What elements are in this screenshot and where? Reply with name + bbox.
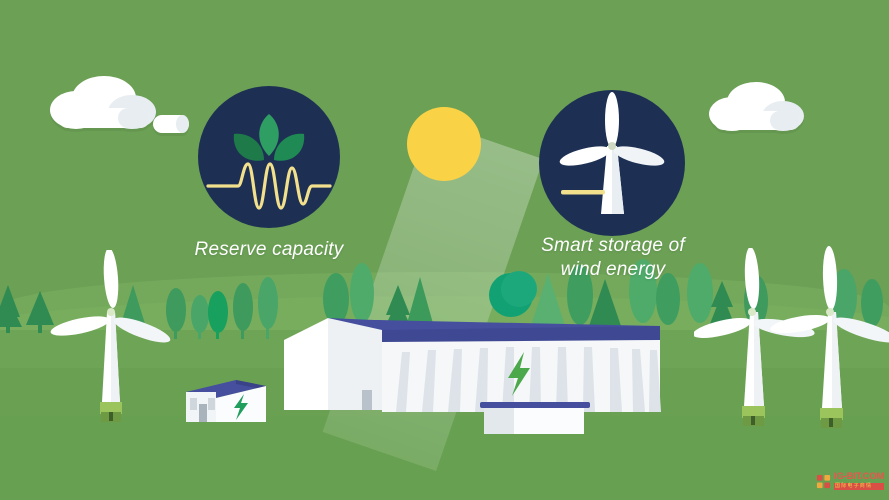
badge-smart-storage-caption: Smart storage of wind energy [520, 234, 706, 282]
leaf-center [259, 114, 279, 156]
badge-reserve-capacity-caption: Reserve capacity [178, 238, 360, 262]
watermark-subtext: 国际电子商情 [834, 483, 884, 490]
caption-text: Reserve capacity [195, 239, 344, 260]
infographic-scene: Reserve capacity Smart storage of wind e… [0, 0, 889, 500]
cloud-small-left [152, 113, 190, 135]
substation-annex [476, 398, 596, 440]
wind-turbine-icon [539, 90, 685, 236]
sun [407, 107, 481, 181]
wind-turbine-left [46, 250, 176, 430]
sine-wave-line [208, 164, 330, 208]
cloud-large-right [708, 78, 808, 136]
wind-turbine-right-front [770, 246, 889, 436]
cloud-large-left [48, 72, 160, 134]
yellow-baseline [561, 190, 605, 195]
ig-bit-watermark: IG-BIT.COM 国际电子商情 [816, 470, 886, 492]
caption-line-2: wind energy [520, 258, 706, 282]
caption-line-1: Smart storage of [520, 234, 706, 258]
watermark-logo-icon [816, 474, 831, 489]
watermark-text: IG-BIT.COM [834, 472, 884, 482]
leaves-with-waveform-icon [198, 86, 340, 228]
small-house [172, 370, 277, 432]
